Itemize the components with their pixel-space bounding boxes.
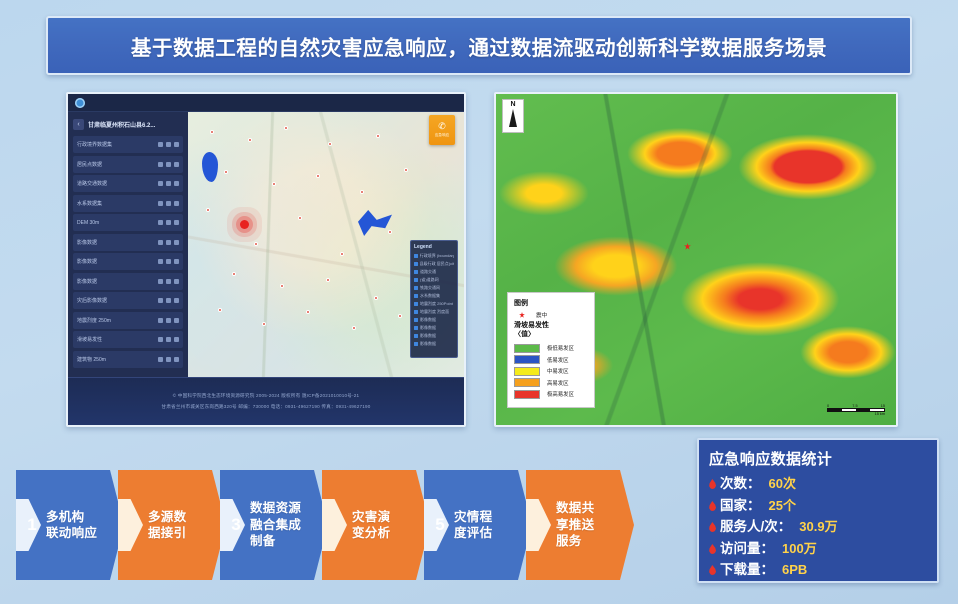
legend-item-label: 水系数据集 bbox=[420, 293, 440, 299]
sidebar-layer-row[interactable]: 灾后影像数据 bbox=[73, 292, 183, 309]
legend-item-label: (省)道路网 bbox=[420, 277, 439, 283]
flame-icon bbox=[709, 565, 716, 575]
page-title-banner: 基于数据工程的自然灾害应急响应，通过数据流驱动创新科学数据服务场景 bbox=[46, 16, 912, 75]
layer-visibility-icon[interactable] bbox=[166, 142, 171, 147]
legend-subtitle: 滑坡易发性 〈值〉 bbox=[514, 322, 589, 340]
map-poi-marker[interactable] bbox=[218, 308, 222, 312]
legend-item-label: 铁路交通网 bbox=[420, 285, 440, 291]
step-number: 1 bbox=[19, 512, 45, 538]
sidebar-layer-row[interactable]: 滑坡易发性 bbox=[73, 331, 183, 348]
stats-key: 下载量： bbox=[720, 558, 774, 578]
sidebar-layer-label: 影像数据 bbox=[77, 239, 155, 246]
sidebar-title: 甘肃临夏州积石山县6.2... bbox=[88, 120, 155, 129]
layer-visibility-icon[interactable] bbox=[166, 181, 171, 186]
legend-checkbox[interactable] bbox=[414, 318, 418, 322]
stats-value: 100万 bbox=[782, 538, 817, 557]
sidebar-layer-label: 居民点数据 bbox=[77, 161, 155, 168]
app-footer: © 中国科学院西北生态环境资源研究院 2005-2024 版权所有 陇ICP备2… bbox=[68, 377, 464, 425]
landslide-susceptibility-map: N 图例 震中 滑坡易发性 〈值〉 极低易发区低易发区中易发区高易发区极高易发区… bbox=[494, 92, 898, 427]
phone-icon: ✆ bbox=[438, 122, 446, 131]
map-poi-marker[interactable] bbox=[280, 284, 284, 288]
sidebar-layer-label: 水系数据集 bbox=[77, 200, 155, 207]
layer-visibility-icon[interactable] bbox=[166, 240, 171, 245]
step-number: 6 bbox=[529, 512, 555, 538]
map-poi-marker[interactable] bbox=[360, 190, 364, 194]
north-arrow-icon: N bbox=[502, 99, 524, 133]
workflow-step-4[interactable]: 4灾害演 变分析 bbox=[322, 470, 430, 580]
map-poi-marker[interactable] bbox=[352, 326, 356, 330]
susceptibility-legend-panel: 图例 震中 滑坡易发性 〈值〉 极低易发区低易发区中易发区高易发区极高易发区 bbox=[507, 292, 595, 408]
step-number: 2 bbox=[121, 512, 147, 538]
legend-checkbox[interactable] bbox=[414, 278, 418, 282]
chevron-left-icon[interactable]: ‹ bbox=[73, 119, 84, 130]
flame-icon bbox=[709, 522, 716, 532]
legend-checkbox[interactable] bbox=[414, 286, 418, 290]
page-title: 基于数据工程的自然灾害应急响应，通过数据流驱动创新科学数据服务场景 bbox=[131, 31, 827, 61]
legend-item-label: 影像数据 bbox=[420, 333, 436, 339]
legend-epicenter-row: 震中 bbox=[514, 311, 589, 319]
layer-visibility-icon[interactable] bbox=[166, 279, 171, 284]
layer-settings-icon[interactable] bbox=[158, 298, 163, 303]
legend-item-label: 行政境界 (boundary) bbox=[420, 253, 454, 259]
step-number: 4 bbox=[325, 512, 351, 538]
legend-epicenter-label: 震中 bbox=[536, 311, 547, 319]
map-poi-marker[interactable] bbox=[374, 296, 378, 300]
layer-settings-icon[interactable] bbox=[158, 220, 163, 225]
layer-more-icon[interactable] bbox=[174, 142, 179, 147]
class-color-swatch bbox=[514, 344, 540, 353]
epicenter-star-icon bbox=[519, 312, 525, 318]
footer-copyright: © 中国科学院西北生态环境资源研究院 2005-2024 版权所有 陇ICP备2… bbox=[173, 393, 360, 399]
app-sidebar: ‹ 甘肃临夏州积石山县6.2... 行政境界数据集居民点数据道路交通数据水系数据… bbox=[68, 112, 188, 377]
susceptibility-class-row: 中易发区 bbox=[514, 367, 589, 376]
legend-item-label: 影像数据 bbox=[420, 317, 436, 323]
layer-settings-icon[interactable] bbox=[158, 162, 163, 167]
layer-visibility-icon[interactable] bbox=[166, 337, 171, 342]
stats-panel: 应急响应数据统计 次数：60次国家：25个服务人/次：30.9万访问量：100万… bbox=[697, 438, 939, 583]
layer-more-icon[interactable] bbox=[174, 298, 179, 303]
susceptibility-class-row: 高易发区 bbox=[514, 378, 589, 387]
legend-item-label: 影像数据 bbox=[420, 341, 436, 347]
layer-more-icon[interactable] bbox=[174, 259, 179, 264]
stats-row: 下载量：6PB bbox=[709, 558, 927, 578]
map-legend-item[interactable]: 行政境界 (boundary) bbox=[414, 252, 454, 260]
legend-title: 图例 bbox=[514, 298, 589, 308]
legend-item-label: 县级行政 居民点(city) bbox=[420, 261, 454, 267]
class-label: 中易发区 bbox=[547, 367, 569, 375]
scalebar-tick-label: 15 bbox=[881, 404, 885, 408]
flame-icon bbox=[709, 479, 716, 489]
map-poi-marker[interactable] bbox=[376, 134, 380, 138]
layer-more-icon[interactable] bbox=[174, 162, 179, 167]
layer-visibility-icon[interactable] bbox=[166, 201, 171, 206]
app-map-canvas[interactable]: Legend 行政境界 (boundary)县级行政 居民点(city)道路交通… bbox=[188, 112, 464, 377]
map-legend-item[interactable]: 水系数据集 bbox=[414, 292, 454, 300]
stats-key: 次数： bbox=[720, 472, 761, 492]
map-poi-marker[interactable] bbox=[398, 314, 402, 318]
map-poi-marker[interactable] bbox=[328, 142, 332, 146]
class-label: 高易发区 bbox=[547, 379, 569, 387]
map-scalebar: 07.515 15 km bbox=[827, 404, 885, 417]
layer-more-icon[interactable] bbox=[174, 318, 179, 323]
class-color-swatch bbox=[514, 390, 540, 399]
globe-icon bbox=[75, 98, 85, 108]
layer-settings-icon[interactable] bbox=[158, 259, 163, 264]
layer-visibility-icon[interactable] bbox=[166, 259, 171, 264]
map-poi-marker[interactable] bbox=[262, 322, 266, 326]
layer-more-icon[interactable] bbox=[174, 279, 179, 284]
workflow-step-3[interactable]: 3数据资源 融合集成 制备 bbox=[220, 470, 328, 580]
map-poi-marker[interactable] bbox=[232, 272, 236, 276]
layer-more-icon[interactable] bbox=[174, 201, 179, 206]
layer-more-icon[interactable] bbox=[174, 181, 179, 186]
map-legend-item[interactable]: 道路交通 bbox=[414, 268, 454, 276]
susceptibility-class-row: 极高易发区 bbox=[514, 390, 589, 399]
map-poi-marker[interactable] bbox=[298, 216, 302, 220]
layer-settings-icon[interactable] bbox=[158, 357, 163, 362]
north-arrow-label: N bbox=[510, 101, 515, 108]
step-label: 数据共 享推送 服务 bbox=[556, 500, 594, 550]
map-poi-marker[interactable] bbox=[340, 252, 344, 256]
flame-icon bbox=[709, 500, 716, 510]
layer-visibility-icon[interactable] bbox=[166, 357, 171, 362]
badge-label: 应急响应 bbox=[435, 133, 449, 138]
layer-settings-icon[interactable] bbox=[158, 181, 163, 186]
step-label: 灾害演 变分析 bbox=[352, 509, 390, 542]
map-legend-item[interactable]: 铁路交通网 bbox=[414, 284, 454, 292]
footer-address: 甘肃省兰州市城关区东岗西路320号 邮编：730000 电话：0931-4962… bbox=[161, 404, 370, 410]
stats-value: 60次 bbox=[769, 473, 796, 492]
class-label: 低易发区 bbox=[547, 356, 569, 364]
stats-key: 访问量： bbox=[720, 537, 774, 557]
map-poi-marker[interactable] bbox=[206, 208, 210, 212]
flame-icon bbox=[709, 543, 716, 553]
map-legend-item[interactable]: 影像数据 bbox=[414, 324, 454, 332]
map-poi-marker[interactable] bbox=[388, 230, 392, 234]
workflow-step-1[interactable]: 1多机构 联动响应 bbox=[16, 470, 124, 580]
sidebar-layer-row[interactable]: 居民点数据 bbox=[73, 156, 183, 173]
stats-value: 6PB bbox=[782, 562, 807, 577]
water-body bbox=[202, 152, 218, 182]
step-number: 3 bbox=[223, 512, 249, 538]
step-label: 多机构 联动响应 bbox=[46, 509, 97, 542]
epicenter-marker-icon[interactable] bbox=[240, 220, 249, 229]
step-label: 多源数 据接引 bbox=[148, 509, 186, 542]
stats-title: 应急响应数据统计 bbox=[709, 448, 927, 469]
legend-checkbox[interactable] bbox=[414, 270, 418, 274]
map-poi-marker[interactable] bbox=[224, 170, 228, 174]
sidebar-header: ‹ 甘肃临夏州积石山县6.2... bbox=[73, 117, 183, 132]
layer-more-icon[interactable] bbox=[174, 220, 179, 225]
class-color-swatch bbox=[514, 355, 540, 364]
map-legend-item[interactable]: 地震烈度 250Point bbox=[414, 300, 454, 308]
workflow-step-5[interactable]: 5灾情程 度评估 bbox=[424, 470, 532, 580]
stats-value: 30.9万 bbox=[799, 516, 837, 535]
stats-row: 服务人/次：30.9万 bbox=[709, 515, 927, 535]
stats-row: 次数：60次 bbox=[709, 472, 927, 492]
sidebar-layer-row[interactable]: 建筑物 250m bbox=[73, 351, 183, 368]
north-arrow-shape bbox=[509, 109, 517, 127]
class-label: 极高易发区 bbox=[547, 390, 574, 398]
layer-more-icon[interactable] bbox=[174, 357, 179, 362]
layer-settings-icon[interactable] bbox=[158, 240, 163, 245]
class-color-swatch bbox=[514, 378, 540, 387]
sidebar-layer-row[interactable]: 影像数据 bbox=[73, 273, 183, 290]
map-legend-panel[interactable]: Legend 行政境界 (boundary)县级行政 居民点(city)道路交通… bbox=[410, 240, 458, 358]
stats-value: 25个 bbox=[769, 495, 796, 514]
sidebar-layer-label: 滑坡易发性 bbox=[77, 336, 155, 343]
layer-visibility-icon[interactable] bbox=[166, 162, 171, 167]
susceptibility-class-row: 极低易发区 bbox=[514, 344, 589, 353]
map-poi-marker[interactable] bbox=[210, 130, 214, 134]
layer-settings-icon[interactable] bbox=[158, 337, 163, 342]
sidebar-layer-label: 灾后影像数据 bbox=[77, 297, 155, 304]
scalebar-tick-label: 0 bbox=[827, 404, 829, 408]
step-label: 灾情程 度评估 bbox=[454, 509, 492, 542]
emergency-response-badge[interactable]: ✆ 应急响应 bbox=[429, 115, 455, 145]
sidebar-layer-label: 影像数据 bbox=[77, 258, 155, 265]
sidebar-layer-label: 影像数据 bbox=[77, 278, 155, 285]
layer-more-icon[interactable] bbox=[174, 240, 179, 245]
sidebar-layer-row[interactable]: 道路交通数据 bbox=[73, 175, 183, 192]
sidebar-layer-row[interactable]: 行政境界数据集 bbox=[73, 136, 183, 153]
map-poi-marker[interactable] bbox=[306, 310, 310, 314]
legend-item-label: 影像数据 bbox=[420, 325, 436, 331]
legend-checkbox[interactable] bbox=[414, 334, 418, 338]
sidebar-layer-label: 地震烈度 250m bbox=[77, 317, 155, 324]
stats-key: 服务人/次： bbox=[720, 515, 791, 535]
sidebar-layer-row[interactable]: 水系数据集 bbox=[73, 195, 183, 212]
legend-checkbox[interactable] bbox=[414, 302, 418, 306]
map-legend-title: Legend bbox=[414, 244, 454, 250]
app-topbar bbox=[68, 94, 464, 112]
map-poi-marker[interactable] bbox=[254, 242, 258, 246]
layer-settings-icon[interactable] bbox=[158, 142, 163, 147]
map-legend-item[interactable]: 影像数据 bbox=[414, 316, 454, 324]
layer-settings-icon[interactable] bbox=[158, 318, 163, 323]
legend-checkbox[interactable] bbox=[414, 294, 418, 298]
map-poi-marker[interactable] bbox=[272, 182, 276, 186]
map-legend-item[interactable]: 影像数据 bbox=[414, 332, 454, 340]
layer-visibility-icon[interactable] bbox=[166, 318, 171, 323]
stats-row: 国家：25个 bbox=[709, 494, 927, 514]
scalebar-unit: 15 km bbox=[827, 412, 885, 416]
sidebar-layer-row[interactable]: 影像数据 bbox=[73, 253, 183, 270]
sidebar-layer-label: 道路交通数据 bbox=[77, 180, 155, 187]
sidebar-layer-row[interactable]: 影像数据 bbox=[73, 234, 183, 251]
map-legend-item[interactable]: 地震烈度 烈度面 bbox=[414, 308, 454, 316]
map-poi-marker[interactable] bbox=[284, 126, 288, 130]
legend-item-label: 地震烈度 250Point bbox=[420, 301, 453, 307]
map-legend-item[interactable]: 县级行政 居民点(city) bbox=[414, 260, 454, 268]
emergency-response-app-screenshot: ‹ 甘肃临夏州积石山县6.2... 行政境界数据集居民点数据道路交通数据水系数据… bbox=[66, 92, 466, 427]
map-legend-item[interactable]: (省)道路网 bbox=[414, 276, 454, 284]
river-feature bbox=[358, 210, 392, 236]
legend-checkbox[interactable] bbox=[414, 342, 418, 346]
legend-checkbox[interactable] bbox=[414, 310, 418, 314]
layer-settings-icon[interactable] bbox=[158, 279, 163, 284]
legend-checkbox[interactable] bbox=[414, 326, 418, 330]
class-label: 极低易发区 bbox=[547, 344, 574, 352]
workflow-steps: 1多机构 联动响应2多源数 据接引3数据资源 融合集成 制备4灾害演 变分析5灾… bbox=[16, 470, 686, 580]
map-poi-marker[interactable] bbox=[326, 278, 330, 282]
sidebar-layer-row[interactable]: 地震烈度 250m bbox=[73, 312, 183, 329]
susceptibility-class-row: 低易发区 bbox=[514, 355, 589, 364]
stats-key: 国家： bbox=[720, 494, 761, 514]
legend-checkbox[interactable] bbox=[414, 262, 418, 266]
class-color-swatch bbox=[514, 367, 540, 376]
layer-more-icon[interactable] bbox=[174, 337, 179, 342]
map-poi-marker[interactable] bbox=[316, 174, 320, 178]
layer-visibility-icon[interactable] bbox=[166, 298, 171, 303]
workflow-step-2[interactable]: 2多源数 据接引 bbox=[118, 470, 226, 580]
sidebar-layer-row[interactable]: DEM 30m bbox=[73, 214, 183, 231]
stats-row: 访问量：100万 bbox=[709, 537, 927, 557]
map-legend-item[interactable]: 影像数据 bbox=[414, 340, 454, 348]
workflow-step-6[interactable]: 6数据共 享推送 服务 bbox=[526, 470, 634, 580]
map-poi-marker[interactable] bbox=[248, 138, 252, 142]
legend-item-label: 道路交通 bbox=[420, 269, 436, 275]
layer-settings-icon[interactable] bbox=[158, 201, 163, 206]
map-poi-marker[interactable] bbox=[404, 168, 408, 172]
legend-checkbox[interactable] bbox=[414, 254, 418, 258]
scalebar-tick-label: 7.5 bbox=[852, 404, 857, 408]
step-number: 5 bbox=[427, 512, 453, 538]
sidebar-layer-label: DEM 30m bbox=[77, 220, 155, 226]
legend-item-label: 地震烈度 烈度面 bbox=[420, 309, 449, 315]
sidebar-layer-label: 建筑物 250m bbox=[77, 356, 155, 363]
step-label: 数据资源 融合集成 制备 bbox=[250, 500, 301, 550]
sidebar-layer-label: 行政境界数据集 bbox=[77, 141, 155, 148]
layer-visibility-icon[interactable] bbox=[166, 220, 171, 225]
